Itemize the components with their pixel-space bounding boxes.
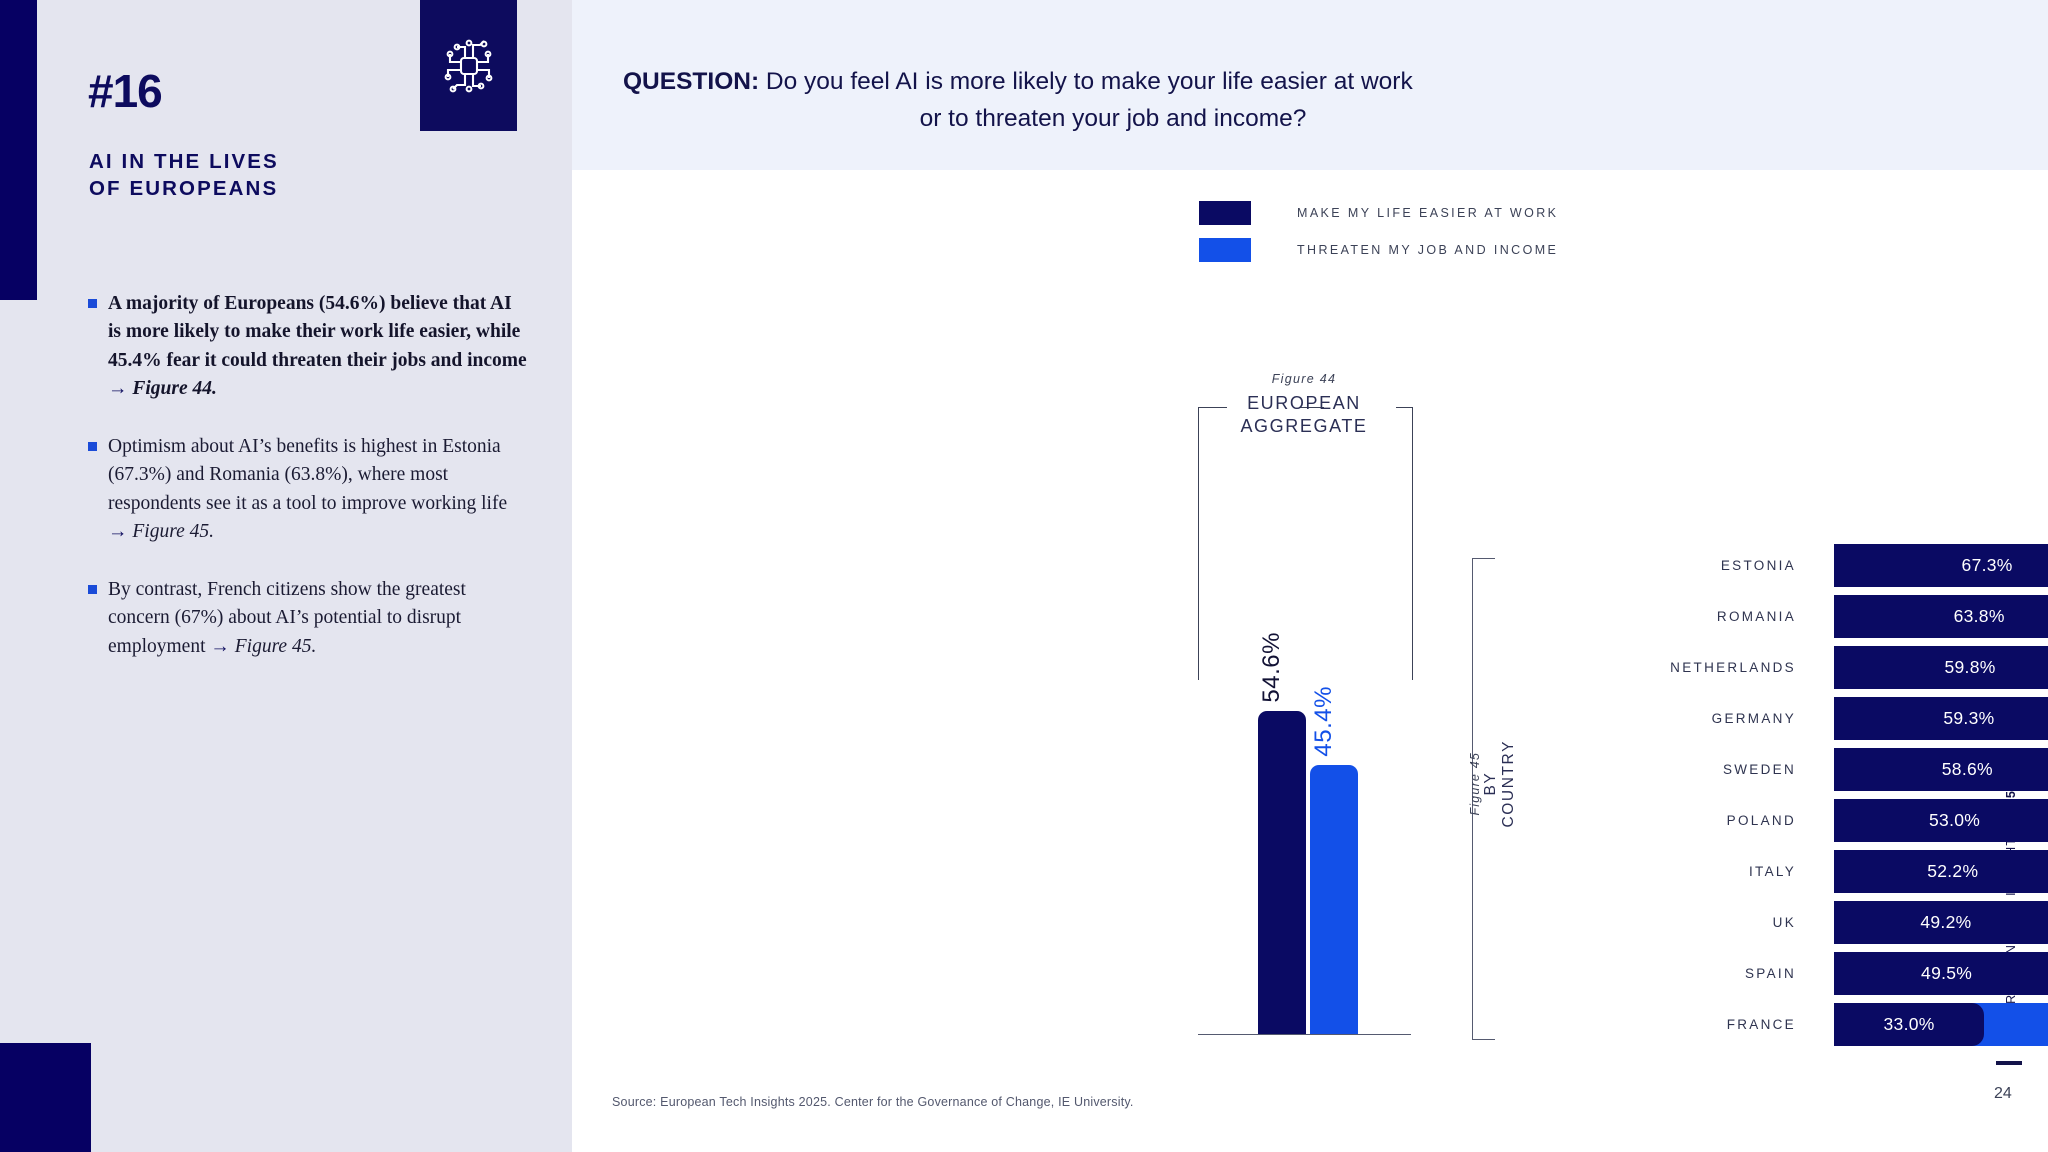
bullet-list: A majority of Europeans (54.6%) believe …: [88, 290, 528, 691]
legend-swatch-easier: [1199, 201, 1251, 225]
table-row: POLAND47.0%53.0%: [1516, 795, 2048, 845]
table-row: ROMANIA36.2%63.8%: [1516, 591, 2048, 641]
country-label: ROMANIA: [1516, 609, 1796, 624]
chart-legend: MAKE MY LIFE EASIER AT WORK THREATEN MY …: [1199, 198, 1558, 272]
question-line2: or to threaten your job and income?: [623, 101, 1583, 138]
table-row: SPAIN50.5%49.5%: [1516, 948, 2048, 998]
country-label: GERMANY: [1516, 711, 1796, 726]
legend-item-threaten: THREATEN MY JOB AND INCOME: [1199, 235, 1558, 265]
source-note: Source: European Tech Insights 2025. Cen…: [612, 1095, 1134, 1109]
country-label: FRANCE: [1516, 1017, 1796, 1032]
table-row: SWEDEN41.4%58.6%: [1516, 744, 2048, 794]
country-label: NETHERLANDS: [1516, 660, 1796, 675]
bullet-square-icon: [88, 299, 97, 308]
stacked-bar: 50.8%49.2%: [1834, 901, 2048, 944]
country-label: ITALY: [1516, 864, 1796, 879]
bar-segment-easier: 33.0%: [1834, 1003, 1984, 1046]
bar-value-easier: 59.8%: [1944, 657, 1995, 678]
stacked-bar: 40.7%59.3%: [1834, 697, 2048, 740]
list-item: Optimism about AI’s benefits is highest …: [88, 433, 528, 546]
stacked-bar: 50.5%49.5%: [1834, 952, 2048, 995]
figure-44-title-line1: EUROPEAN: [1196, 392, 1412, 415]
bar-segment-easier: 52.2%: [1834, 850, 2048, 893]
page-number: 24: [1994, 1085, 2012, 1103]
figure-45-axis-label: Figure 45 BY COUNTRY: [1468, 740, 1508, 828]
stacked-bar: 41.4%58.6%: [1834, 748, 2048, 791]
figure-44-bracket: [1198, 407, 1413, 680]
ai-chip-icon: [420, 0, 517, 131]
bar-value-easier: 49.5%: [1921, 963, 1972, 984]
bullet-square-icon: [88, 442, 97, 451]
figure-45-title: BY COUNTRY: [1482, 740, 1518, 828]
bar-segment-easier: 63.8%: [1834, 595, 2048, 638]
figure-reference: Figure 45.: [235, 636, 317, 657]
table-row: FRANCE67.0%33.0%: [1516, 999, 2048, 1049]
bar-segment-easier: 49.5%: [1834, 952, 2048, 995]
bar-threaten: [1310, 765, 1358, 1034]
table-row: ITALY47.8%52.2%: [1516, 846, 2048, 896]
arrow-icon: →: [210, 636, 234, 657]
bar-value-easier: 49.2%: [1920, 912, 1971, 933]
legend-label-easier: MAKE MY LIFE EASIER AT WORK: [1297, 206, 1558, 220]
main-content: QUESTION: Do you feel AI is more likely …: [572, 0, 2048, 1152]
page-title: AI IN THE LIVES OF EUROPEANS: [89, 148, 419, 202]
bar-value-threaten: 45.4%: [1310, 686, 1338, 757]
legend-swatch-threaten: [1199, 238, 1251, 262]
question-text: QUESTION: Do you feel AI is more likely …: [623, 64, 1583, 138]
bar-value-easier: 63.8%: [1954, 606, 2005, 627]
table-row: NETHERLANDS40.2%59.8%: [1516, 642, 2048, 692]
bar-value-easier: 54.6%: [1258, 632, 1286, 703]
stacked-bar: 67.0%33.0%: [1834, 1003, 2048, 1046]
table-row: UK50.8%49.2%: [1516, 897, 2048, 947]
bar-segment-easier: 49.2%: [1834, 901, 2048, 944]
arrow-icon: →: [108, 521, 132, 542]
stacked-bar: 32.7%67.3%: [1834, 544, 2048, 587]
figure-44-title: EUROPEAN AGGREGATE: [1196, 392, 1412, 438]
country-label: SWEDEN: [1516, 762, 1796, 777]
slide-number: #16: [88, 68, 162, 114]
bar-easier: [1258, 711, 1306, 1034]
bar-value-easier: 33.0%: [1884, 1014, 1935, 1035]
figure-44-title-line2: AGGREGATE: [1196, 415, 1412, 438]
stacked-bar: 36.2%63.8%: [1834, 595, 2048, 638]
bar-value-easier: 53.0%: [1929, 810, 1980, 831]
country-label: SPAIN: [1516, 966, 1796, 981]
page-title-line2: OF EUROPEANS: [89, 175, 419, 202]
country-label: UK: [1516, 915, 1796, 930]
figure-44-chart: Figure 44 EUROPEAN AGGREGATE 54.6% 45.4%: [1196, 372, 1412, 1062]
bar-segment-easier: 59.8%: [1834, 646, 2048, 689]
stacked-bar: 47.8%52.2%: [1834, 850, 2048, 893]
figure-44-caption: Figure 44: [1196, 372, 1412, 386]
bar-value-easier: 67.3%: [1962, 555, 2013, 576]
list-item: A majority of Europeans (54.6%) believe …: [88, 290, 528, 403]
decorative-edge-bar-top: [0, 0, 37, 300]
table-row: ESTONIA32.7%67.3%: [1516, 540, 2048, 590]
bullet-square-icon: [88, 585, 97, 594]
legend-label-threaten: THREATEN MY JOB AND INCOME: [1297, 243, 1558, 257]
figure-45-caption: Figure 45: [1468, 740, 1482, 828]
bar-segment-easier: 58.6%: [1834, 748, 2048, 791]
arrow-icon: →: [108, 378, 132, 399]
bullet-text: Optimism about AI’s benefits is highest …: [108, 436, 507, 514]
page-title-line1: AI IN THE LIVES: [89, 148, 419, 175]
table-row: GERMANY40.7%59.3%: [1516, 693, 2048, 743]
bar-value-easier: 52.2%: [1927, 861, 1978, 882]
country-label: ESTONIA: [1516, 558, 1796, 573]
bar-segment-easier: 59.3%: [1834, 697, 2048, 740]
bar-value-easier: 59.3%: [1943, 708, 1994, 729]
figure-44-plot: 54.6% 45.4%: [1198, 679, 1411, 1035]
bullet-text: A majority of Europeans (54.6%) believe …: [108, 293, 527, 371]
bar-segment-easier: 67.3%: [1834, 544, 2048, 587]
figure-reference: Figure 45.: [132, 521, 214, 542]
stacked-bar: 47.0%53.0%: [1834, 799, 2048, 842]
figure-45-rows: ESTONIA32.7%67.3%ROMANIA36.2%63.8%NETHER…: [1516, 540, 2048, 1050]
question-label: QUESTION:: [623, 68, 759, 95]
stacked-bar: 40.2%59.8%: [1834, 646, 2048, 689]
bar-segment-easier: 53.0%: [1834, 799, 2048, 842]
legend-item-easier: MAKE MY LIFE EASIER AT WORK: [1199, 198, 1558, 228]
slide-page: #16 AI IN THE LIVES OF EUROPEANS A major…: [0, 0, 2048, 1152]
list-item: By contrast, French citizens show the gr…: [88, 576, 528, 661]
bar-value-easier: 58.6%: [1942, 759, 1993, 780]
question-line1: Do you feel AI is more likely to make yo…: [759, 68, 1413, 95]
figure-reference: Figure 44.: [132, 378, 217, 399]
left-sidebar: #16 AI IN THE LIVES OF EUROPEANS A major…: [0, 0, 572, 1152]
rail-tick-mark: [1996, 1061, 2022, 1065]
decorative-edge-bar-bottom: [0, 1043, 91, 1152]
country-label: POLAND: [1516, 813, 1796, 828]
